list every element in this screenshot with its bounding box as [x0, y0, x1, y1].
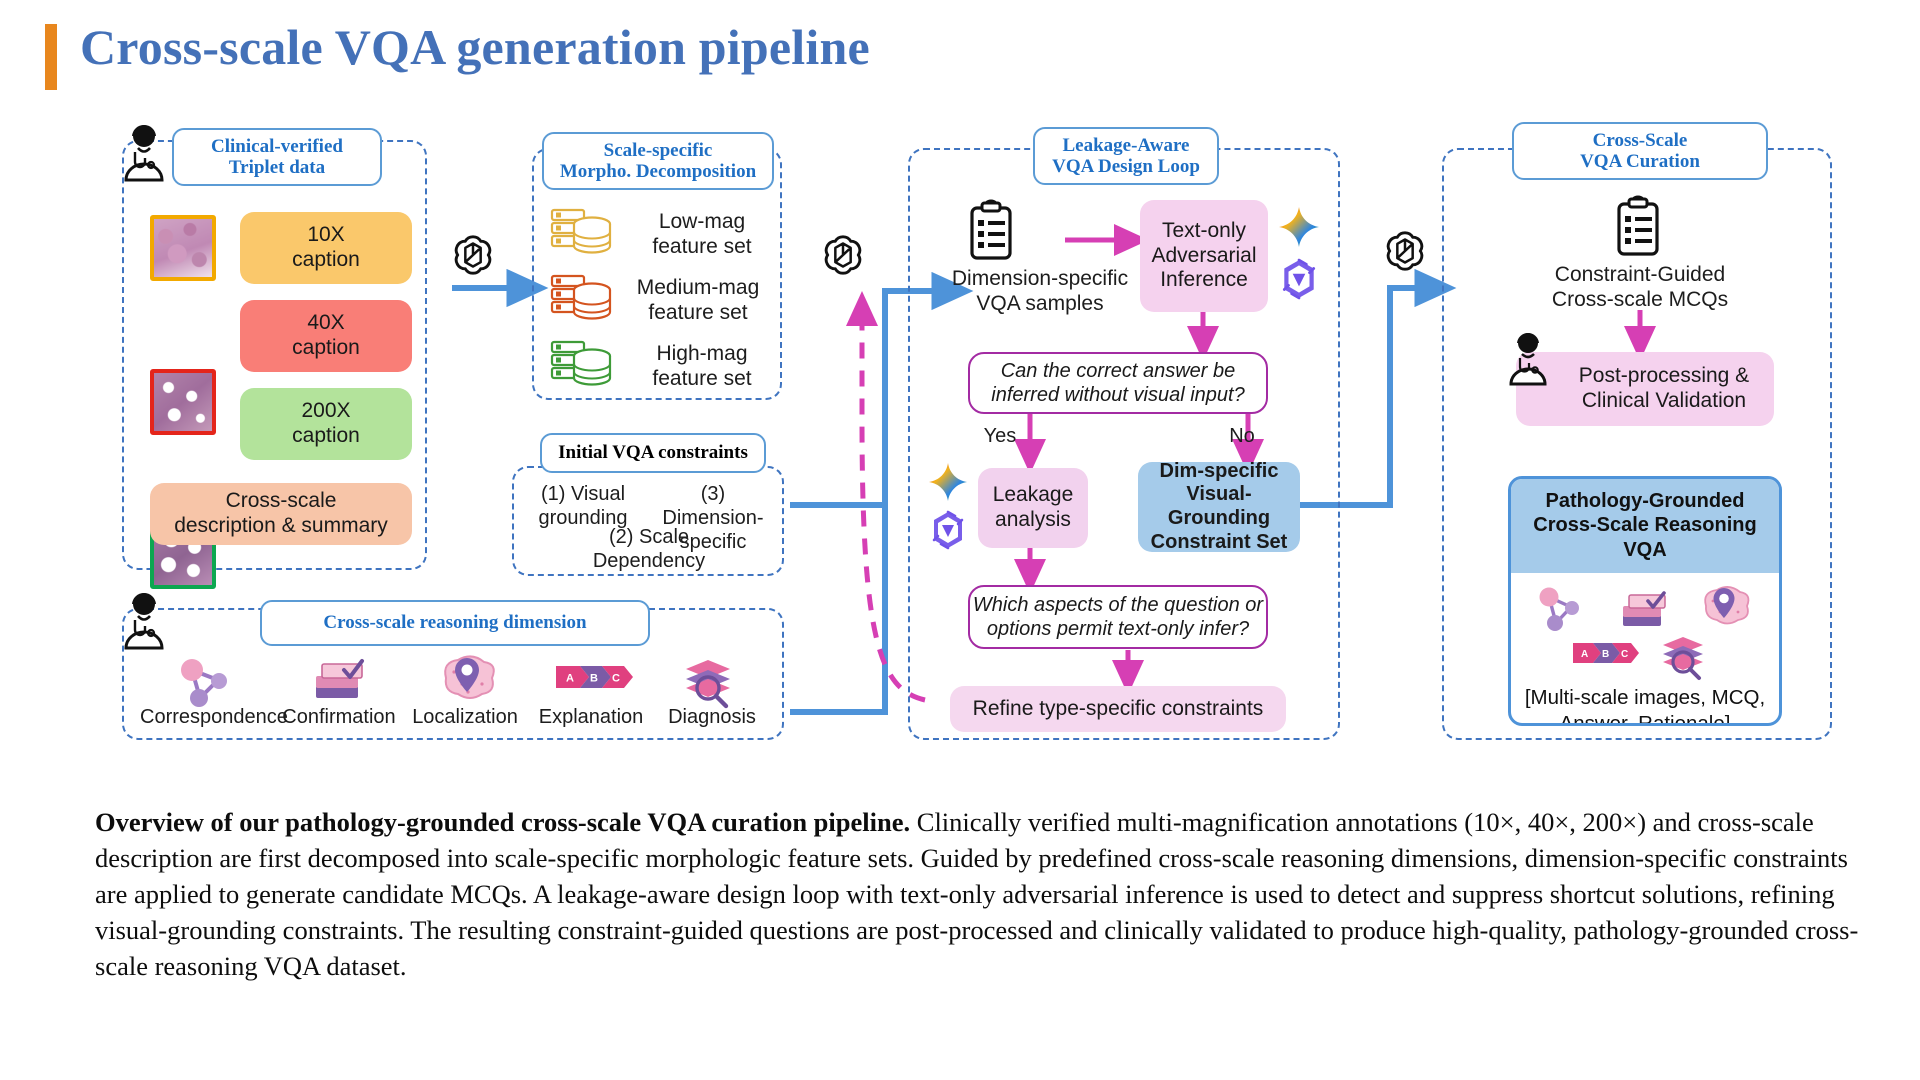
dimension-specific-samples-label: Dimension-specific VQA samples — [925, 266, 1155, 316]
leakage-analysis-box: Leakage analysis — [978, 468, 1088, 548]
feature-set-high-mag: High-mag feature set — [548, 338, 778, 394]
text-only-adversarial-inference-box: Text-only Adversarial Inference — [1140, 200, 1268, 312]
doctor-icon — [1504, 330, 1552, 386]
mcq-line2: Cross-scale MCQs — [1552, 288, 1728, 311]
initial-constraints-heading: Initial VQA constraints — [540, 433, 766, 473]
feature-set-medium-mag: Medium-mag feature set — [548, 272, 778, 328]
correspondence-icon — [140, 654, 270, 702]
refine-constraints-label: Refine type-specific constraints — [973, 697, 1264, 722]
openai-logo — [1382, 228, 1428, 274]
thumbnail-10x — [150, 215, 216, 281]
morpho-heading-line2: Morpho. Decomposition — [560, 161, 756, 182]
samples-line1: Dimension-specific — [952, 267, 1128, 290]
gemini-icon — [1278, 206, 1320, 248]
openai-logo — [820, 232, 866, 278]
svg-text:C: C — [612, 673, 620, 685]
morpho-heading-line1: Scale-specific — [604, 140, 713, 161]
constraint-set-line3: Constraint Set — [1151, 531, 1288, 553]
qwen-icon — [1278, 258, 1320, 300]
qwen-icon — [928, 510, 968, 550]
final-output-header: Pathology-Grounded Cross-Scale Reasoning… — [1511, 479, 1779, 573]
clipboard-list-icon — [1612, 196, 1664, 258]
constraint-set-line2: Visual-Grounding — [1168, 483, 1270, 529]
dimension-item-confirmation: Confirmation — [278, 654, 400, 734]
initial-constraints-heading-text: Initial VQA constraints — [558, 442, 748, 463]
doctor-icon — [118, 122, 170, 182]
thumbnail-40x — [150, 369, 216, 435]
caption-box-40x: 40X caption — [240, 300, 412, 372]
feature-set-high-line2: feature set — [652, 367, 751, 390]
openai-logo — [450, 232, 496, 278]
dimension-item-correspondence: Correspondence — [140, 654, 270, 734]
adversarial-line2: Adversarial — [1151, 244, 1256, 267]
feature-set-medium-line2: feature set — [648, 301, 747, 324]
decision-q1-line2: inferred without visual input? — [991, 384, 1244, 406]
dimension-label-confirmation: Confirmation — [278, 705, 400, 729]
constraint-2-line1: (2) Scale — [609, 526, 689, 548]
constraint-item-2: (2) Scale Dependency — [556, 525, 742, 573]
dimension-item-explanation: A B C Explanation — [530, 654, 652, 734]
curation-heading-line2: VQA Curation — [1580, 151, 1700, 172]
caption-200x-line1: 200X — [301, 399, 350, 422]
summary-line2: description & summary — [174, 514, 388, 537]
post-processing-box: Post-processing & Clinical Validation — [1516, 352, 1774, 426]
caption-200x-line2: caption — [292, 424, 360, 447]
samples-line2: VQA samples — [976, 292, 1103, 315]
mcq-line1: Constraint-Guided — [1555, 263, 1725, 286]
reasoning-dimension-heading-text: Cross-scale reasoning dimension — [323, 612, 586, 633]
dimension-label-correspondence: Correspondence — [140, 705, 270, 729]
leakage-line2: analysis — [995, 508, 1071, 531]
triplet-data-heading: Clinical-verified Triplet data — [172, 128, 382, 186]
caption-10x-line2: caption — [292, 248, 360, 271]
localization-icon — [406, 654, 524, 702]
triplet-heading-line1: Clinical-verified — [211, 136, 343, 157]
feature-set-high-line1: High-mag — [656, 342, 747, 365]
dimension-item-diagnosis: Diagnosis — [656, 654, 768, 734]
svg-text:B: B — [1602, 649, 1609, 660]
svg-text:A: A — [1581, 649, 1588, 660]
curation-heading: Cross-Scale VQA Curation — [1512, 122, 1768, 180]
dim-specific-constraint-set-box: Dim-specific Visual-Grounding Constraint… — [1138, 462, 1300, 552]
final-head-line1: Pathology-Grounded — [1546, 490, 1745, 512]
dimension-label-localization: Localization — [406, 705, 524, 729]
caption-box-200x: 200X caption — [240, 388, 412, 460]
dimension-label-explanation: Explanation — [530, 705, 652, 729]
final-foot-line1: [Multi-scale images, MCQ, — [1525, 686, 1765, 709]
leakage-heading-line2: VQA Design Loop — [1052, 156, 1200, 177]
reasoning-dimension-heading: Cross-scale reasoning dimension — [260, 600, 650, 646]
confirmation-icon — [278, 654, 400, 702]
clipboard-list-icon — [965, 200, 1017, 262]
page-title: Cross-scale VQA generation pipeline — [80, 18, 870, 76]
leakage-line1: Leakage — [993, 483, 1074, 506]
caption-bold-lead: Overview of our pathology-grounded cross… — [95, 807, 910, 837]
database-icon — [548, 338, 614, 394]
feature-set-low-line2: feature set — [652, 235, 751, 258]
branch-label-yes: Yes — [975, 424, 1025, 448]
svg-text:C: C — [1621, 649, 1628, 660]
feature-set-low-line1: Low-mag — [659, 210, 745, 233]
decision-q1-line1: Can the correct answer be — [1001, 360, 1236, 382]
caption-40x-line1: 40X — [307, 311, 344, 334]
triplet-heading-line2: Triplet data — [229, 157, 325, 178]
constraint-guided-mcq-label: Constraint-Guided Cross-scale MCQs — [1520, 262, 1760, 312]
final-head-line2: Cross-Scale Reasoning VQA — [1533, 514, 1756, 560]
dimension-label-diagnosis: Diagnosis — [656, 705, 768, 729]
constraint-set-line1: Dim-specific — [1160, 460, 1279, 482]
final-foot-line2: Answer, Rationale] — [1560, 712, 1731, 726]
diagnosis-icon — [656, 654, 768, 702]
caption-box-10x: 10X caption — [240, 212, 412, 284]
final-output-card: Pathology-Grounded Cross-Scale Reasoning… — [1508, 476, 1782, 726]
explanation-icon: A B C — [530, 654, 652, 702]
constraint-item-1: (1) Visual grounding — [522, 482, 644, 530]
figure-caption: Overview of our pathology-grounded cross… — [95, 805, 1885, 985]
adversarial-line1: Text-only — [1162, 219, 1246, 242]
curation-heading-line1: Cross-Scale — [1593, 130, 1688, 151]
constraint-2-line2: Dependency — [593, 550, 705, 572]
database-icon — [548, 206, 614, 262]
caption-10x-line1: 10X — [307, 223, 344, 246]
database-icon — [548, 272, 614, 328]
constraint-3-line1: (3) Dimension- — [662, 483, 763, 529]
gemini-icon — [928, 462, 968, 502]
leakage-heading-line1: Leakage-Aware — [1063, 135, 1190, 156]
post-line2: Clinical Validation — [1582, 389, 1746, 412]
doctor-icon — [118, 590, 170, 650]
caption-40x-line2: caption — [292, 336, 360, 359]
constraint-1-line1: (1) Visual — [541, 483, 625, 505]
final-output-footer: [Multi-scale images, MCQ, Answer, Ration… — [1511, 685, 1779, 726]
final-output-icons: A B C — [1511, 575, 1779, 679]
leakage-loop-heading: Leakage-Aware VQA Design Loop — [1033, 127, 1219, 185]
cross-scale-summary-box: Cross-scale description & summary — [150, 483, 412, 545]
decision-q2-line2: options permit text-only infer? — [987, 618, 1249, 640]
svg-text:A: A — [566, 673, 574, 685]
adversarial-line3: Inference — [1160, 268, 1248, 291]
decision-question-1: Can the correct answer be inferred witho… — [968, 352, 1268, 414]
feature-set-low-mag: Low-mag feature set — [548, 206, 778, 262]
post-line1: Post-processing & — [1579, 364, 1749, 387]
dimension-item-localization: Localization — [406, 654, 524, 734]
refine-constraints-box: Refine type-specific constraints — [950, 686, 1286, 732]
svg-text:B: B — [590, 673, 598, 685]
decision-q2-line1: Which aspects of the question or — [973, 594, 1263, 616]
branch-label-no: No — [1222, 424, 1262, 448]
morpho-decomposition-heading: Scale-specific Morpho. Decomposition — [542, 132, 774, 190]
decision-question-2: Which aspects of the question or options… — [968, 585, 1268, 649]
summary-line1: Cross-scale — [226, 489, 337, 512]
feature-set-medium-line1: Medium-mag — [637, 276, 760, 299]
title-accent-bar — [45, 24, 57, 90]
